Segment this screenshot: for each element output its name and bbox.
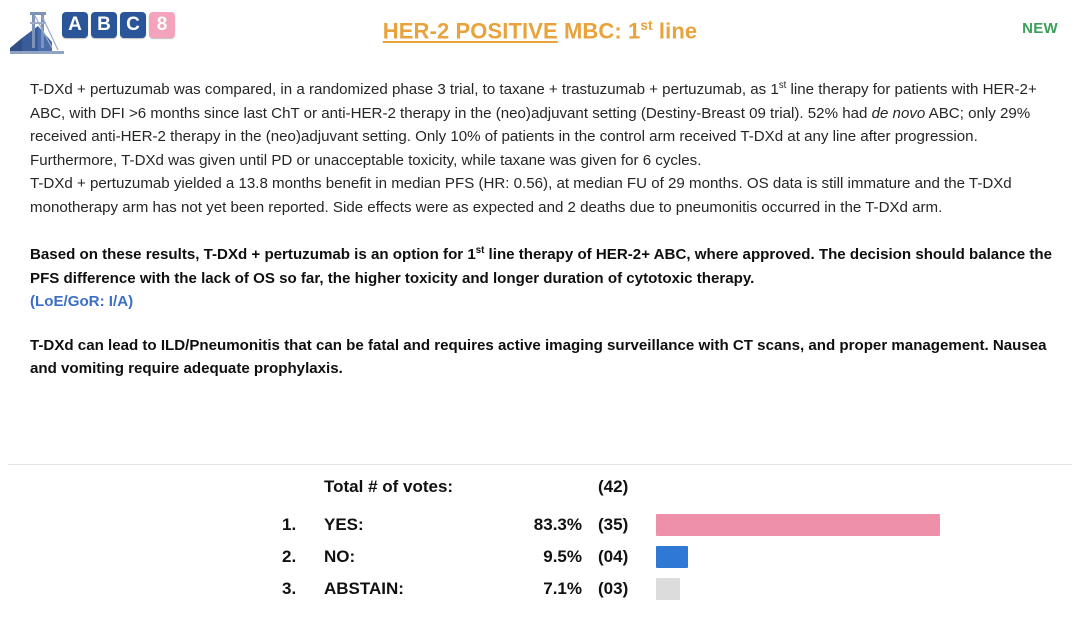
section-divider — [8, 464, 1072, 465]
vote-no-bar — [656, 546, 688, 568]
vote-total-bar-cell — [656, 475, 982, 499]
slide-body: T-DXd + pertuzumab was compared, in a ra… — [30, 74, 1062, 381]
vote-yes-label: YES: — [324, 515, 494, 535]
vote-abstain-label: ABSTAIN: — [324, 579, 494, 599]
vote-total-count: (42) — [598, 477, 656, 497]
rec-seg1: Based on these results, T-DXd + pertuzum… — [30, 246, 476, 263]
vote-total-label: Total # of votes: — [324, 477, 494, 497]
vote-abstain-bar — [656, 578, 680, 600]
paragraph-efficacy-results: T-DXd + pertuzumab yielded a 13.8 months… — [30, 172, 1062, 219]
spacer-2 — [30, 314, 1062, 334]
vote-yes-bar-cell — [656, 513, 982, 537]
vote-row-abstain: 3. ABSTAIN: 7.1% (03) — [282, 573, 982, 605]
vote-abstain-bar-cell — [656, 577, 982, 601]
spacer-1 — [30, 219, 1062, 239]
title-rest-after-sup: line — [653, 18, 698, 43]
title-underlined-part: HER-2 POSITIVE — [383, 18, 558, 43]
vote-no-label: NO: — [324, 547, 494, 567]
new-badge: NEW — [1022, 20, 1058, 37]
slide-header: A B C 8 HER-2 POSITIVE MBC: 1st line NEW — [0, 0, 1080, 62]
vote-no-bar-cell — [656, 545, 982, 569]
vote-no-number: 2. — [282, 547, 324, 567]
vote-yes-number: 1. — [282, 515, 324, 535]
title-rest-before-sup: MBC: 1 — [558, 18, 641, 43]
vote-no-count: (04) — [598, 547, 656, 567]
para1-seg1: T-DXd + pertuzumab was compared, in a ra… — [30, 81, 779, 98]
vote-results: Total # of votes: (42) 1. YES: 83.3% (35… — [282, 471, 982, 605]
paragraph-recommendation: Based on these results, T-DXd + pertuzum… — [30, 239, 1062, 290]
vote-abstain-number: 3. — [282, 579, 324, 599]
vote-abstain-percent: 7.1% — [494, 579, 598, 599]
para1-italic-de-novo: de novo — [872, 105, 926, 122]
page-title: HER-2 POSITIVE MBC: 1st line — [0, 18, 1080, 44]
paragraph-trial-description: T-DXd + pertuzumab was compared, in a ra… — [30, 74, 1062, 172]
vote-yes-percent: 83.3% — [494, 515, 598, 535]
vote-no-percent: 9.5% — [494, 547, 598, 567]
vote-yes-count: (35) — [598, 515, 656, 535]
vote-abstain-count: (03) — [598, 579, 656, 599]
vote-yes-bar — [656, 514, 940, 536]
loe-gor-label: (LoE/GoR: I/A) — [30, 290, 1062, 314]
paragraph-safety-note: T-DXd can lead to ILD/Pneumonitis that c… — [30, 334, 1062, 381]
vote-row-no: 2. NO: 9.5% (04) — [282, 541, 982, 573]
vote-row-yes: 1. YES: 83.3% (35) — [282, 509, 982, 541]
vote-total-row: Total # of votes: (42) — [282, 471, 982, 503]
title-superscript: st — [640, 18, 652, 33]
